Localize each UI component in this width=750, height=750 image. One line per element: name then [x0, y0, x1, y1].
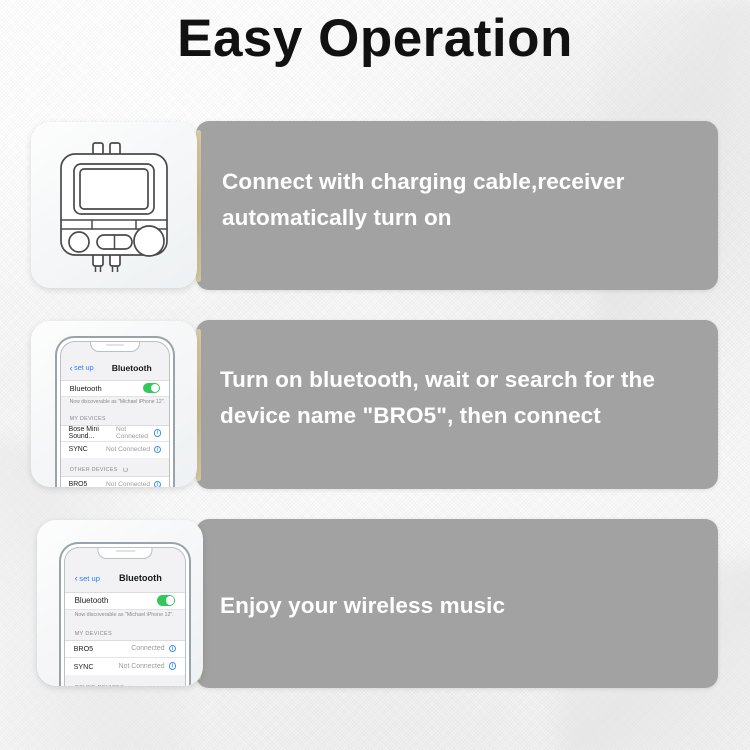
toggle-knob	[166, 596, 175, 605]
info-icon[interactable]: i	[154, 429, 161, 436]
phone-notch	[98, 547, 153, 559]
iphone-mock: ‹ set up Bluetooth Bluetooth Now discove…	[59, 542, 191, 686]
device-name: SYNC	[69, 446, 88, 453]
my-devices-group: Bose Mini Sound... Not Connected i SYNC …	[61, 425, 170, 457]
device-status-group: Not Connected i	[116, 426, 161, 440]
my-devices-header: MY DEVICES	[75, 631, 112, 637]
device-status: Connected	[131, 645, 164, 652]
device-row[interactable]: Bose Mini Sound... Not Connected i	[61, 426, 170, 442]
iphone-screen: ‹ set up Bluetooth Bluetooth Now discove…	[60, 341, 171, 487]
receiver-device-icon	[47, 140, 181, 277]
my-devices-group: BRO5 Connected i SYNC Not Connected i	[65, 640, 186, 674]
step-3-illustration-card: ‹ set up Bluetooth Bluetooth Now discove…	[37, 520, 203, 686]
other-devices-group: BRO5 Not Connected i	[61, 476, 170, 487]
device-status: Not Connected	[106, 446, 150, 453]
device-status-group: Not Connected i	[119, 662, 177, 670]
step-2-illustration-card: ‹ set up Bluetooth Bluetooth Now discove…	[31, 321, 197, 487]
bluetooth-nav-bar: ‹ set up Bluetooth	[61, 360, 170, 376]
searching-spinner-icon	[123, 467, 128, 472]
phone-volume-up-button	[55, 392, 57, 407]
phone-earpiece-speaker	[115, 550, 135, 553]
discoverable-caption: Now discoverable as "Michael iPhone 12".	[75, 612, 187, 618]
other-devices-header: OTHER DEVICES	[75, 685, 135, 686]
device-status-group: Not Connected i	[106, 481, 161, 487]
info-icon[interactable]: i	[154, 446, 161, 453]
phone-power-button	[189, 606, 191, 628]
step-3-text: Enjoy your wireless music	[220, 588, 700, 624]
bluetooth-toggle[interactable]	[157, 595, 175, 606]
iphone-screen: ‹ set up Bluetooth Bluetooth Now discove…	[64, 547, 187, 686]
bluetooth-nav-bar: ‹ set up Bluetooth	[65, 570, 186, 587]
info-icon[interactable]: i	[169, 662, 177, 670]
step-1-illustration-card	[31, 122, 197, 288]
step-1-text: Connect with charging cable,receiver aut…	[222, 164, 702, 237]
back-button-label[interactable]: set up	[79, 574, 100, 583]
device-name: SYNC	[74, 662, 94, 671]
device-row[interactable]: SYNC Not Connected i	[61, 442, 170, 458]
other-devices-header-label: OTHER DEVICES	[70, 467, 118, 473]
back-button-label[interactable]: set up	[74, 363, 94, 372]
bluetooth-toggle-row[interactable]: Bluetooth	[65, 592, 186, 610]
phone-volume-down-button	[59, 621, 61, 637]
back-chevron-icon[interactable]: ‹	[70, 363, 73, 373]
step-2-text: Turn on bluetooth, wait or search for th…	[220, 362, 720, 435]
discoverable-caption: Now discoverable as "Michael iPhone 12".	[70, 399, 171, 405]
info-icon[interactable]: i	[154, 481, 161, 487]
searching-spinner-icon	[129, 685, 134, 686]
my-devices-header-label: MY DEVICES	[75, 631, 112, 637]
toggle-knob	[151, 384, 159, 392]
phone-volume-up-button	[59, 601, 61, 617]
device-row[interactable]: SYNC Not Connected i	[65, 658, 186, 675]
device-status: Not Connected	[106, 481, 150, 487]
page-title: Easy Operation	[0, 8, 750, 69]
device-status-group: Connected i	[131, 645, 176, 653]
device-name: Bose Mini Sound...	[69, 426, 116, 440]
iphone-mock: ‹ set up Bluetooth Bluetooth Now discove…	[55, 336, 175, 487]
device-name: BRO5	[69, 481, 88, 487]
back-chevron-icon[interactable]: ‹	[75, 573, 78, 584]
device-row[interactable]: BRO5 Not Connected i	[61, 477, 170, 487]
phone-power-button	[173, 396, 175, 416]
phone-side-button	[59, 584, 61, 593]
device-name: BRO5	[74, 644, 94, 653]
device-row[interactable]: BRO5 Connected i	[65, 641, 186, 658]
phone-earpiece-speaker	[106, 344, 124, 347]
device-status-group: Not Connected i	[106, 446, 161, 453]
bluetooth-toggle-row[interactable]: Bluetooth	[61, 380, 170, 397]
phone-notch	[90, 341, 140, 352]
other-devices-header: OTHER DEVICES	[70, 467, 128, 473]
bluetooth-toggle[interactable]	[143, 383, 160, 393]
my-devices-header: MY DEVICES	[70, 416, 106, 422]
device-status: Not Connected	[119, 663, 165, 670]
bluetooth-row-label: Bluetooth	[70, 384, 102, 393]
other-devices-header-label: OTHER DEVICES	[75, 685, 125, 686]
screen-title: Bluetooth	[119, 573, 162, 583]
device-status: Not Connected	[116, 426, 150, 440]
my-devices-header-label: MY DEVICES	[70, 416, 106, 422]
bluetooth-row-label: Bluetooth	[75, 596, 109, 605]
info-icon[interactable]: i	[169, 645, 177, 653]
phone-volume-down-button	[55, 411, 57, 426]
screen-title: Bluetooth	[112, 363, 152, 373]
phone-side-button	[55, 376, 57, 385]
